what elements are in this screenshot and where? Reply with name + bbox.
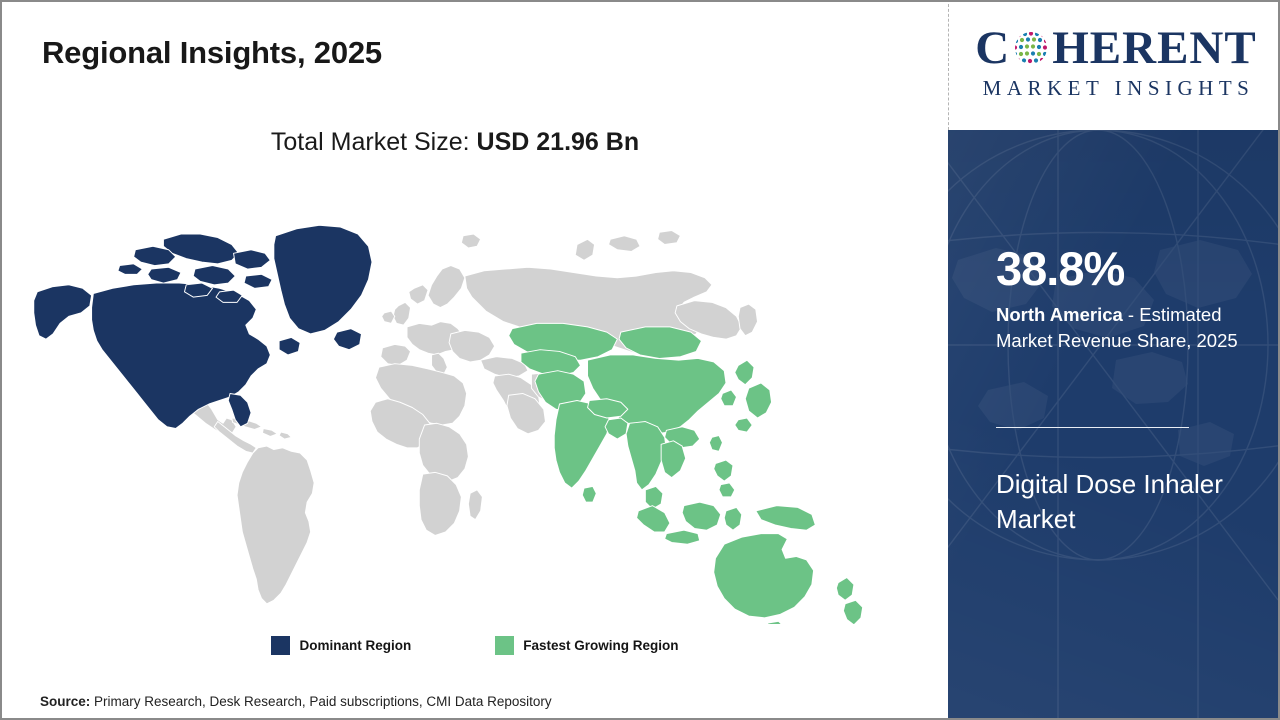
infographic-page: Regional Insights, 2025 Total Market Siz… (0, 0, 1280, 720)
logo-letters-herent: HERENT (1052, 25, 1257, 72)
legend-label-dominant: Dominant Region (299, 638, 411, 653)
stat-divider-rule (996, 427, 1189, 428)
market-name: Digital Dose Inhaler Market (996, 467, 1264, 536)
world-map-svg (32, 184, 917, 624)
logo-letter-c: C (975, 25, 1010, 72)
world-map-container (32, 184, 917, 624)
coherent-market-insights-logo: C (960, 22, 1272, 114)
source-text: Primary Research, Desk Research, Paid su… (90, 694, 551, 709)
globe-texture-background (948, 130, 1280, 720)
stat-panel: 38.8% North America - Estimated Market R… (948, 130, 1280, 720)
source-label: Source: (40, 694, 90, 709)
stat-percent-value: 38.8% (996, 245, 1246, 292)
stat-description: North America - Estimated Market Revenue… (996, 302, 1246, 353)
source-note: Source: Primary Research, Desk Research,… (40, 694, 552, 709)
left-content-panel: Regional Insights, 2025 Total Market Siz… (2, 2, 948, 718)
total-market-size: Total Market Size: USD 21.96 Bn (2, 128, 908, 157)
legend-item-fastest-growing: Fastest Growing Region (495, 636, 678, 655)
map-region-dominant (34, 225, 372, 428)
legend-label-fastest-growing: Fastest Growing Region (523, 638, 678, 653)
globe-dots-icon (1011, 28, 1051, 68)
navy-swatch-icon (271, 636, 290, 655)
legend-item-dominant: Dominant Region (271, 636, 411, 655)
logo-tagline: MARKET INSIGHTS (960, 76, 1272, 101)
map-legend: Dominant Region Fastest Growing Region (2, 636, 948, 655)
total-market-size-label: Total Market Size: (271, 128, 477, 156)
page-title: Regional Insights, 2025 (42, 35, 382, 71)
green-swatch-icon (495, 636, 514, 655)
stat-region-name: North America (996, 304, 1123, 325)
logo-wordmark: C (960, 22, 1272, 74)
stat-block: 38.8% North America - Estimated Market R… (996, 245, 1246, 353)
total-market-size-value: USD 21.96 Bn (477, 128, 640, 156)
map-region-fastest-growing (509, 323, 863, 624)
panel-divider (948, 4, 949, 130)
